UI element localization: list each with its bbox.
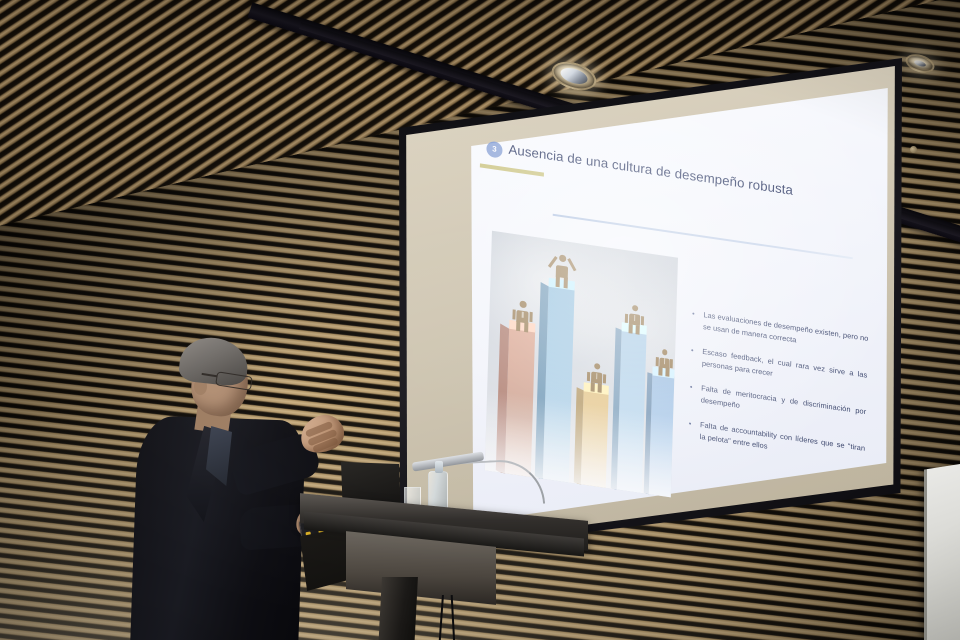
slide-number-badge: 3 [486,141,502,159]
pictogram-arm-right [670,359,673,368]
presentation-photo-scene: 3 Ausencia de una cultura de desempeño r… [0,0,960,640]
pictogram-leg-right [563,277,568,288]
pictogram-tie [663,358,665,364]
pictogram-arm-right [641,316,644,326]
pictogram-arm-right [529,312,532,323]
pictogram-leg-left [516,321,521,331]
pictogram-leg-left [555,276,560,287]
downlight-lens [559,65,590,87]
lectern [300,455,590,640]
pictogram-head [662,349,668,355]
pictogram-leg-left [628,324,632,333]
pictogram-head [594,363,600,370]
title-accent-rule [480,163,544,176]
pictogram-arm-left [513,310,516,321]
pictogram-leg-right [598,383,602,392]
pictogram-person [511,299,534,332]
cable [451,595,456,640]
pictogram-leg-right [524,322,529,332]
lectern-column [378,577,418,640]
pictogram-leg-left [590,382,594,391]
pictogram-arm-left [625,313,628,323]
pictogram-person [586,362,608,393]
pictogram-leg-left [659,367,663,376]
pictogram-tie [522,311,524,318]
pictogram-tie [596,373,598,379]
pictogram-person-cheering [551,253,574,288]
pictogram-head [520,300,527,307]
pictogram-leg-right [636,325,640,334]
pictogram-person [654,348,674,376]
pictogram-head [632,305,638,312]
pictogram-arm-left [656,357,659,366]
pictogram-leg-right [665,368,669,377]
pictogram-person [624,304,646,335]
downlight-lens [914,59,927,67]
pictogram-tie [634,315,636,321]
pictogram-arm-right [603,374,606,384]
cable [438,595,444,640]
wall-panel [924,462,960,640]
pictogram-arm-left [587,371,590,381]
sprinkler-icon [910,146,917,153]
pictogram-head [559,254,566,261]
slide-bullet-list: Las evaluaciones de desempeño existen, p… [686,307,868,479]
